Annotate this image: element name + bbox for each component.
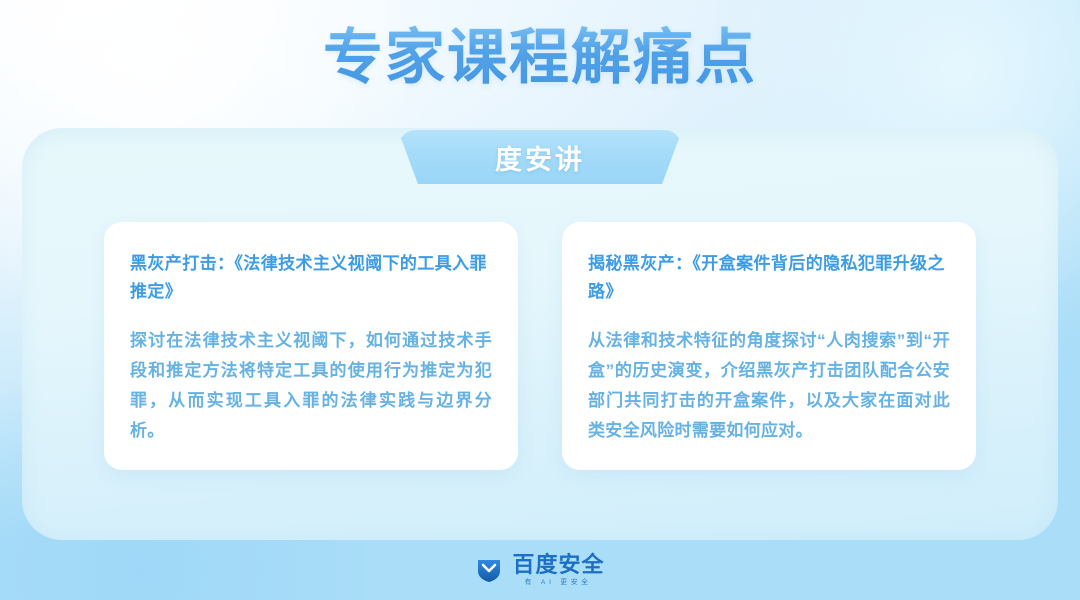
- slide-canvas: 专家课程解痛点 度安讲 黑灰产打击：《法律技术主义视阈下的工具入罪推定》 探讨在…: [0, 0, 1080, 600]
- brand-tagline: 有 AI 更安全: [525, 579, 592, 586]
- brand-text-block: 百度安全 有 AI 更安全: [512, 554, 604, 586]
- course-card-title: 揭秘黑灰产：《开盒案件背后的隐私犯罪升级之路》: [588, 250, 950, 306]
- course-card-list: 黑灰产打击：《法律技术主义视阈下的工具入罪推定》 探讨在法律技术主义视阈下，如何…: [104, 222, 976, 470]
- course-card[interactable]: 黑灰产打击：《法律技术主义视阈下的工具入罪推定》 探讨在法律技术主义视阈下，如何…: [104, 222, 518, 470]
- page-title: 专家课程解痛点: [323, 22, 757, 94]
- course-card[interactable]: 揭秘黑灰产：《开盒案件背后的隐私犯罪升级之路》 从法律和技术特征的角度探讨“人肉…: [562, 222, 976, 470]
- course-card-description: 从法律和技术特征的角度探讨“人肉搜索”到“开盒”的历史演变，介绍黑灰产打击团队配…: [588, 326, 950, 446]
- title-container: 专家课程解痛点: [0, 22, 1080, 94]
- course-card-title: 黑灰产打击：《法律技术主义视阈下的工具入罪推定》: [130, 250, 492, 306]
- section-badge: 度安讲: [398, 130, 682, 184]
- brand-name: 百度安全: [512, 554, 604, 576]
- course-card-description: 探讨在法律技术主义视阈下，如何通过技术手段和推定方法将特定工具的使用行为推定为犯…: [130, 326, 492, 446]
- footer-brand: 百度安全 有 AI 更安全: [0, 540, 1080, 600]
- shield-icon: [475, 556, 503, 584]
- section-badge-label: 度安讲: [495, 138, 585, 177]
